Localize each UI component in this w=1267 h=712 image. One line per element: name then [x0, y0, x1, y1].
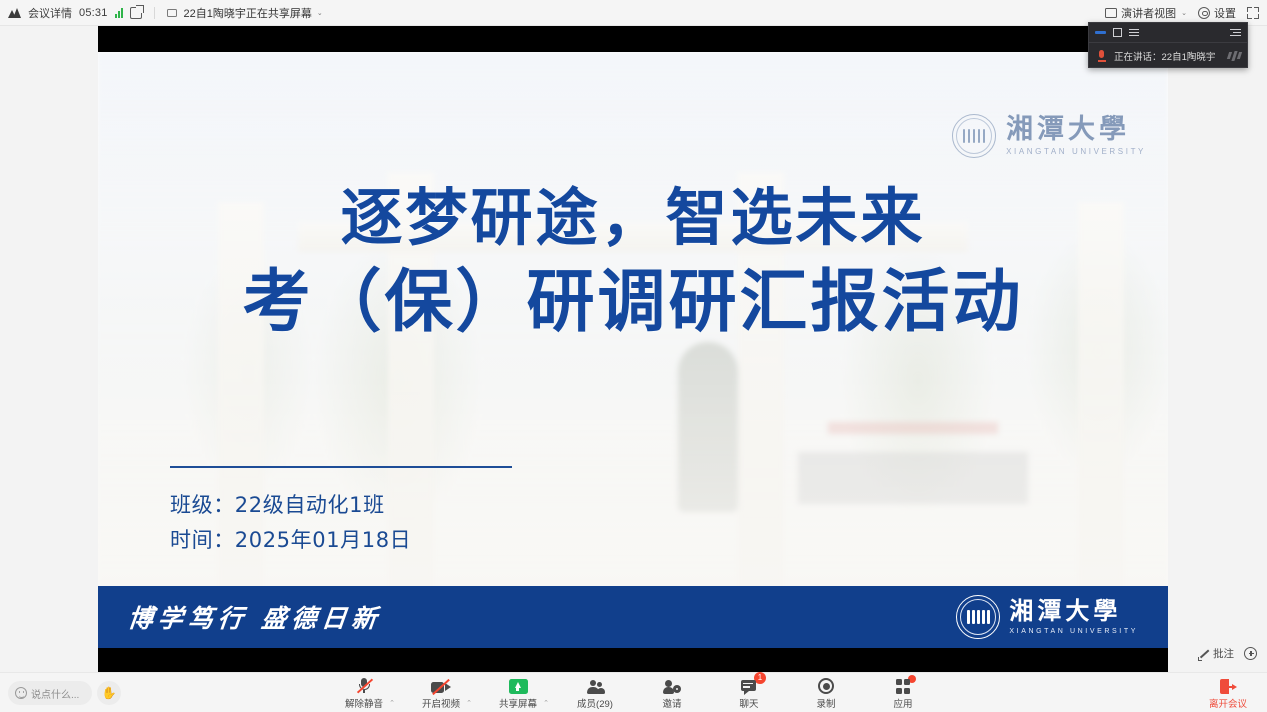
university-motto: 博学笃行 盛德日新 — [126, 599, 384, 635]
toolbar-label: 共享屏幕 — [499, 696, 537, 710]
toolbar-item-video[interactable]: 开启视频 ⌃ — [412, 675, 470, 710]
speaker-float-panel[interactable]: 正在讲话：22自1陶晓宇 — [1088, 22, 1248, 68]
toolbar-item-share[interactable]: 共享屏幕 ⌃ — [489, 675, 547, 710]
chevron-down-icon: ⌄ — [1181, 9, 1187, 17]
university-seal-icon — [952, 114, 996, 158]
sharing-notice-label: 22自1陶晓宇正在共享屏幕 — [184, 5, 312, 21]
divider — [154, 7, 155, 19]
leave-meeting-button[interactable]: 离开会议 — [1195, 679, 1261, 710]
slide-meta: 班级：22级自动化1班 时间：2025年01月18日 — [170, 488, 411, 559]
toolbar-label: 聊天 — [739, 696, 758, 710]
layout-icon — [1105, 8, 1117, 18]
letterbox-top — [98, 26, 1168, 52]
slide-title-line2: 考（保）研调研汇报活动 — [98, 262, 1168, 345]
footer-university-name-cn: 湘潭大學 — [1009, 599, 1138, 623]
share-screen-icon — [509, 675, 528, 694]
view-mode-selector[interactable]: 演讲者视图 ⌄ — [1105, 5, 1187, 21]
invite-icon — [663, 675, 681, 694]
record-icon — [818, 675, 834, 694]
top-bar-left: 会议详情 05:31 22自1陶晓宇正在共享屏幕 ⌄ — [0, 5, 323, 21]
slide-date-line: 时间：2025年01月18日 — [170, 523, 411, 558]
meeting-timer: 05:31 — [79, 7, 108, 19]
meeting-info-label: 会议详情 — [28, 5, 72, 21]
settings-button[interactable]: 设置 — [1198, 5, 1236, 21]
camera-off-icon — [431, 675, 451, 694]
divider-rule — [170, 466, 512, 468]
toolbar-item-participants[interactable]: 成员(29) — [566, 675, 624, 710]
toolbar-label: 录制 — [816, 696, 835, 710]
audio-wave-icon — [1228, 51, 1241, 61]
popout-window-icon[interactable] — [130, 7, 142, 19]
slide-title-line1: 逐梦研途，智选未来 — [98, 180, 1168, 256]
university-logo-footer: 湘潭大學 XIANGTAN UNIVERSITY — [956, 595, 1138, 639]
gear-icon — [1198, 7, 1210, 19]
mini-share-icon — [167, 9, 177, 17]
meeting-info-button[interactable]: 会议详情 — [28, 5, 72, 21]
toolbar-label: 应用 — [893, 696, 912, 710]
meeting-window: 会议详情 05:31 22自1陶晓宇正在共享屏幕 ⌄ 演讲者视图 ⌄ 设置 — [0, 0, 1267, 712]
mic-muted-icon — [356, 675, 372, 694]
pen-annotate-icon — [1198, 648, 1210, 660]
chevron-up-icon[interactable]: ⌃ — [543, 699, 549, 707]
presentation-slide: 湘潭大學 XIANGTAN UNIVERSITY 逐梦研途，智选未来 考（保）研… — [98, 52, 1168, 648]
settings-label: 设置 — [1214, 5, 1236, 21]
university-logo-top: 湘潭大學 XIANGTAN UNIVERSITY — [952, 114, 1146, 158]
speaking-label: 正在讲话：22自1陶晓宇 — [1114, 49, 1215, 63]
chevron-down-icon: ⌄ — [317, 9, 323, 17]
toolbar-item-invite[interactable]: 邀请 — [643, 675, 701, 710]
university-name-cn: 湘潭大學 — [1006, 116, 1146, 143]
participant-list-icon[interactable] — [1129, 29, 1139, 37]
leave-meeting-icon — [1220, 679, 1237, 694]
toolbar-item-record[interactable]: 录制 — [797, 675, 855, 710]
annotation-controls: 批注 — [1198, 646, 1257, 661]
meeting-logo-icon — [8, 8, 21, 18]
restore-window-icon[interactable] — [1113, 28, 1122, 37]
shared-screen-stage[interactable]: 湘潭大學 XIANGTAN UNIVERSITY 逐梦研途，智选未来 考（保）研… — [98, 26, 1168, 672]
sharing-notice[interactable]: 22自1陶晓宇正在共享屏幕 ⌄ — [184, 5, 323, 21]
float-panel-body: 正在讲话：22自1陶晓宇 — [1089, 42, 1247, 68]
toolbar-item-mute[interactable]: 解除静音 ⌃ — [335, 675, 393, 710]
toolbar-label: 开启视频 — [422, 696, 460, 710]
toolbar-label: 成员(29) — [577, 696, 613, 710]
top-bar-right: 演讲者视图 ⌄ 设置 — [1105, 5, 1267, 21]
toolbar-actions: 解除静音 ⌃ 开启视频 ⌃ 共享屏幕 ⌃ 成员(29) — [0, 675, 1267, 710]
toolbar-item-chat[interactable]: 1 聊天 — [720, 675, 778, 710]
float-panel-header — [1089, 23, 1247, 42]
chevron-up-icon[interactable]: ⌃ — [466, 699, 472, 707]
fullscreen-icon[interactable] — [1247, 7, 1259, 19]
participants-icon — [586, 675, 605, 694]
zoom-in-icon[interactable] — [1244, 647, 1257, 660]
toolbar-item-apps[interactable]: 应用 — [874, 675, 932, 710]
bottom-toolbar: 说点什么... ✋ 解除静音 ⌃ 开启视频 ⌃ 共享屏幕 — [0, 672, 1267, 712]
annotate-label: 批注 — [1213, 646, 1234, 661]
mic-muted-icon — [1095, 49, 1108, 62]
slide-class-line: 班级：22级自动化1班 — [170, 488, 411, 523]
toolbar-label: 邀请 — [662, 696, 681, 710]
apps-icon — [896, 675, 911, 694]
university-name-en: XIANGTAN UNIVERSITY — [1006, 148, 1146, 156]
signal-bars-icon[interactable] — [115, 8, 123, 18]
top-bar: 会议详情 05:31 22自1陶晓宇正在共享屏幕 ⌄ 演讲者视图 ⌄ 设置 — [0, 0, 1267, 26]
leave-meeting-label: 离开会议 — [1209, 696, 1247, 710]
chevron-up-icon[interactable]: ⌃ — [389, 699, 395, 707]
slide-content: 湘潭大學 XIANGTAN UNIVERSITY 逐梦研途，智选未来 考（保）研… — [98, 52, 1168, 648]
letterbox-bottom — [98, 648, 1168, 672]
slide-title: 逐梦研途，智选未来 考（保）研调研汇报活动 — [98, 180, 1168, 345]
chat-icon — [741, 675, 758, 694]
footer-university-name-en: XIANGTAN UNIVERSITY — [1009, 628, 1138, 635]
toolbar-label: 解除静音 — [345, 696, 383, 710]
minimize-icon[interactable] — [1095, 31, 1106, 34]
university-seal-icon — [956, 595, 1000, 639]
view-mode-label: 演讲者视图 — [1121, 5, 1176, 21]
expand-panel-icon[interactable] — [1230, 29, 1241, 37]
slide-footer-band: 博学笃行 盛德日新 湘潭大學 XIANGTAN UNIVERSITY — [98, 586, 1168, 648]
annotate-button[interactable]: 批注 — [1198, 646, 1234, 661]
